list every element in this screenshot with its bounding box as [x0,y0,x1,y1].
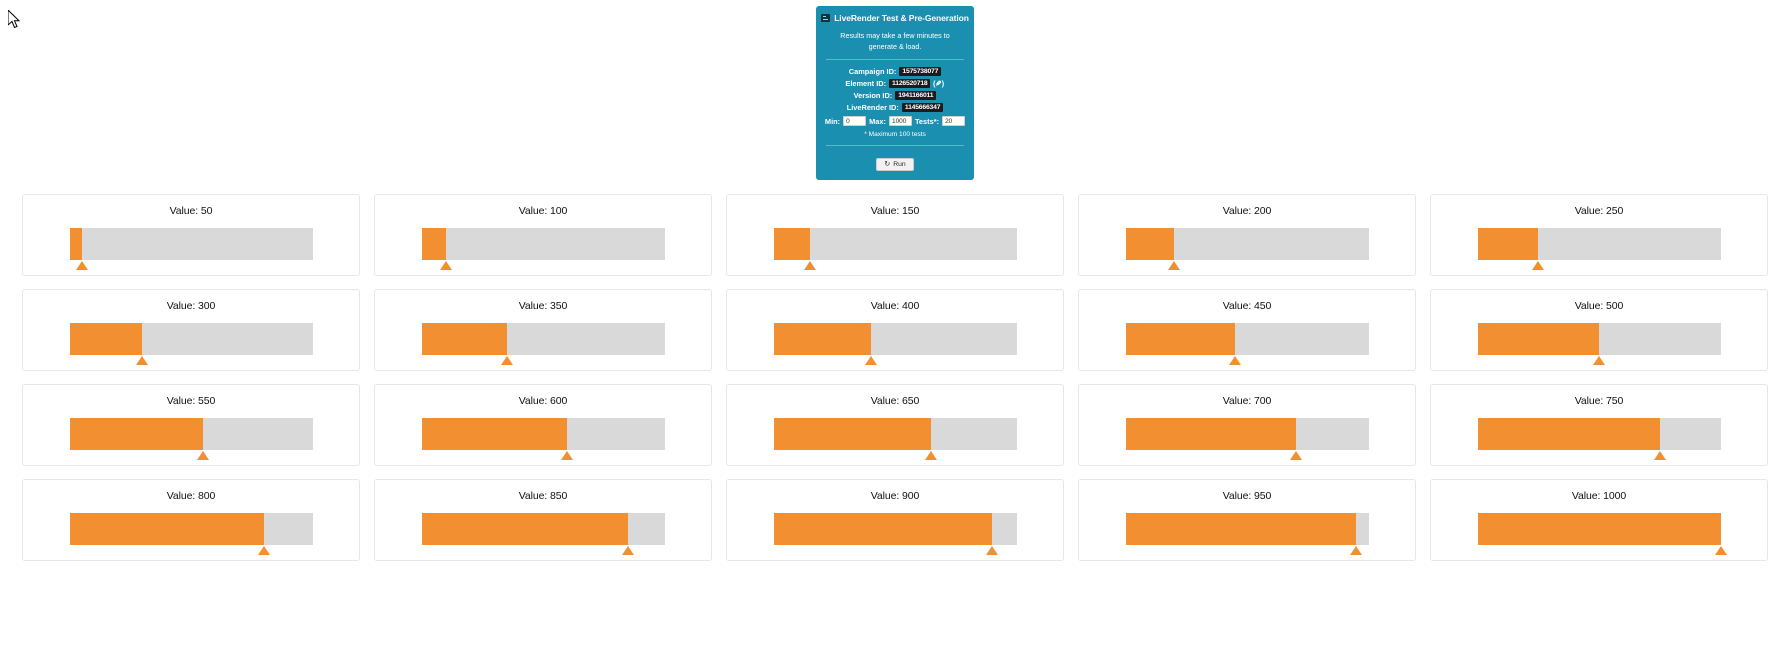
result-card-title: Value: 250 [1575,205,1623,217]
element-id-value: 1126520718 [889,79,930,88]
meter-fill [422,323,507,355]
result-card-title: Value: 150 [871,205,919,217]
result-card: Value: 500 [1430,289,1768,371]
terminal-icon [821,14,830,22]
campaign-id-value: 1575738077 [899,67,941,76]
meter-fill [1126,513,1357,545]
meter-fill [1126,323,1235,355]
meter-fill [774,513,993,545]
run-button-label: Run [893,161,905,168]
meter-fill [774,323,871,355]
result-card-title: Value: 700 [1223,395,1271,407]
value-meter [1126,228,1369,260]
meter-marker [561,451,573,460]
value-meter [774,323,1017,355]
result-card: Value: 950 [1078,479,1416,561]
result-card-title: Value: 650 [871,395,919,407]
meter-fill [1478,228,1539,260]
element-id-label: Element ID: [845,79,886,88]
result-card-title: Value: 350 [519,300,567,312]
result-card-title: Value: 500 [1575,300,1623,312]
version-id-row: Version ID: 1941166011 [824,91,966,100]
result-card: Value: 1000 [1430,479,1768,561]
value-meter [70,228,313,260]
meter-marker [1593,356,1605,365]
value-meter [422,323,665,355]
value-meter [1478,513,1721,545]
result-card: Value: 50 [22,194,360,276]
meter-marker [986,546,998,555]
divider-top [826,59,964,60]
result-card: Value: 400 [726,289,1064,371]
result-card-title: Value: 50 [170,205,213,217]
control-panel-region: LiveRender Test & Pre-Generation Results… [0,0,1790,186]
result-card-title: Value: 950 [1223,490,1271,502]
meter-fill [774,418,932,450]
value-meter [422,513,665,545]
campaign-id-label: Campaign ID: [849,67,897,76]
result-card-title: Value: 850 [519,490,567,502]
max-label: Max: [869,117,886,126]
result-card-title: Value: 400 [871,300,919,312]
meter-marker [1715,546,1727,555]
value-meter [70,323,313,355]
liverender-id-label: LiveRender ID: [847,103,899,112]
value-meter [70,513,313,545]
result-card: Value: 450 [1078,289,1416,371]
panel-subtitle: Results may take a few minutes to genera… [828,30,962,52]
value-meter [1126,418,1369,450]
meter-marker [865,356,877,365]
campaign-id-row: Campaign ID: 1575738077 [824,67,966,76]
meter-marker [136,356,148,365]
result-card: Value: 650 [726,384,1064,466]
max-tests-note: * Maximum 100 tests [824,131,966,138]
result-card: Value: 850 [374,479,712,561]
meter-marker [1168,261,1180,270]
meter-marker [622,546,634,555]
value-meter [1126,513,1369,545]
range-fields-row: Min: Max: Tests*: [824,116,966,126]
meter-track [70,228,313,260]
tests-label: Tests*: [915,117,939,126]
meter-marker [1350,546,1362,555]
value-meter [1478,228,1721,260]
meter-marker [197,451,209,460]
result-card-title: Value: 800 [167,490,215,502]
value-meter [422,228,665,260]
result-card: Value: 100 [374,194,712,276]
run-button[interactable]: ↻ Run [876,158,913,171]
meter-track [774,228,1017,260]
meter-fill [422,513,629,545]
meter-marker [76,261,88,270]
liverender-id-value: 1145666347 [902,103,943,112]
result-card-title: Value: 1000 [1572,490,1626,502]
meter-fill [70,418,204,450]
result-card-title: Value: 750 [1575,395,1623,407]
value-meter [774,513,1017,545]
version-id-label: Version ID: [854,91,893,100]
result-card-title: Value: 200 [1223,205,1271,217]
meter-marker [925,451,937,460]
result-card: Value: 150 [726,194,1064,276]
meter-fill [70,513,264,545]
meter-marker [1229,356,1241,365]
results-grid: Value: 50Value: 100Value: 150Value: 200V… [0,186,1790,561]
panel-title: LiveRender Test & Pre-Generation [824,13,966,23]
value-meter [422,418,665,450]
result-card: Value: 800 [22,479,360,561]
result-card-title: Value: 900 [871,490,919,502]
result-card: Value: 350 [374,289,712,371]
result-card: Value: 300 [22,289,360,371]
meter-marker [440,261,452,270]
max-input[interactable] [889,116,912,126]
meter-fill [70,228,82,260]
meter-fill [422,418,568,450]
result-card-title: Value: 100 [519,205,567,217]
result-card-title: Value: 450 [1223,300,1271,312]
meter-fill [1126,418,1296,450]
result-card-title: Value: 300 [167,300,215,312]
result-card: Value: 700 [1078,384,1416,466]
meter-marker [1532,261,1544,270]
meter-marker [258,546,270,555]
meter-fill [1126,228,1175,260]
value-meter [774,228,1017,260]
meter-marker [804,261,816,270]
liverender-control-panel: LiveRender Test & Pre-Generation Results… [816,6,974,180]
refresh-icon: ↻ [884,161,890,168]
meter-track [422,228,665,260]
divider-bottom [826,145,964,146]
meter-marker [1654,451,1666,460]
result-card: Value: 200 [1078,194,1416,276]
meter-fill [1478,418,1660,450]
result-card-title: Value: 600 [519,395,567,407]
liverender-id-row: LiveRender ID: 1145666347 [824,103,966,112]
value-meter [774,418,1017,450]
result-card: Value: 900 [726,479,1064,561]
meter-fill [70,323,143,355]
tests-input[interactable] [942,116,965,126]
result-card: Value: 750 [1430,384,1768,466]
value-meter [1478,323,1721,355]
meter-fill [422,228,446,260]
edit-element-link[interactable]: (✎) [933,79,944,88]
pencil-icon: (✎) [933,79,944,88]
meter-marker [501,356,513,365]
meter-marker [1290,451,1302,460]
result-card-title: Value: 550 [167,395,215,407]
result-card: Value: 600 [374,384,712,466]
value-meter [1478,418,1721,450]
meter-fill [774,228,810,260]
version-id-value: 1941166011 [895,91,936,100]
value-meter [70,418,313,450]
result-card: Value: 550 [22,384,360,466]
panel-title-text: LiveRender Test & Pre-Generation [834,13,969,23]
min-label: Min: [825,117,840,126]
result-card: Value: 250 [1430,194,1768,276]
element-id-row: Element ID: 1126520718 (✎) [824,79,966,88]
meter-fill [1478,513,1721,545]
min-input[interactable] [843,116,866,126]
value-meter [1126,323,1369,355]
meter-fill [1478,323,1600,355]
